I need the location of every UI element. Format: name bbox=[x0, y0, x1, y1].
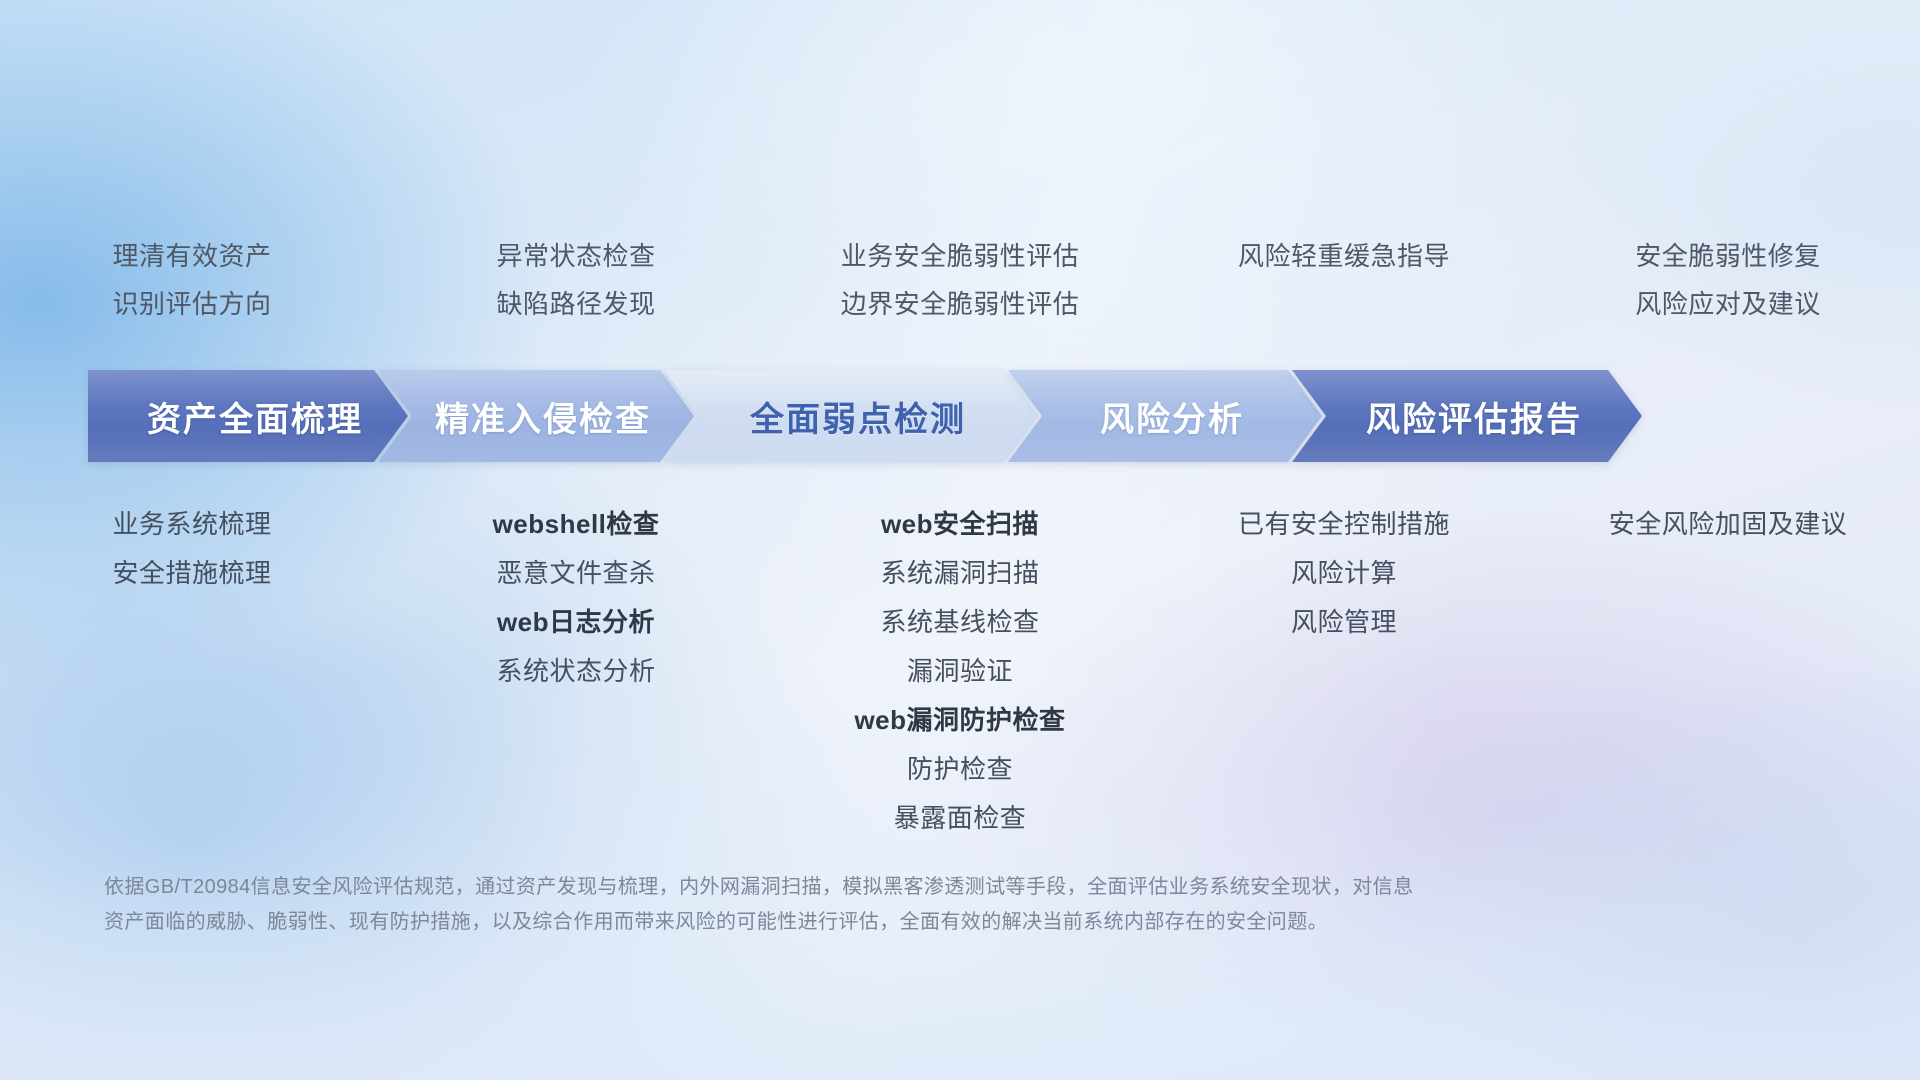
top-label-item: 异常状态检查 bbox=[496, 232, 655, 280]
bottom-labels-step-1: 业务系统梳理安全措施梳理 bbox=[0, 500, 384, 598]
process-chevron-step-3[interactable]: 全面弱点检测 bbox=[664, 370, 1038, 462]
top-labels-step-4: 风险轻重缓急指导 bbox=[1152, 232, 1536, 328]
slide-content: 理清有效资产识别评估方向异常状态检查缺陷路径发现业务安全脆弱性评估边界安全脆弱性… bbox=[0, 0, 1920, 1080]
top-labels-step-3: 业务安全脆弱性评估边界安全脆弱性评估 bbox=[768, 232, 1152, 328]
bottom-label-item: 风险计算 bbox=[1291, 549, 1397, 598]
bottom-label-row: 业务系统梳理安全措施梳理webshell检查恶意文件查杀web日志分析系统状态分… bbox=[0, 500, 1920, 843]
bottom-label-item: 暴露面检查 bbox=[894, 794, 1027, 843]
bottom-label-item: 系统基线检查 bbox=[880, 598, 1039, 647]
process-chevron-step-5[interactable]: 风险评估报告 bbox=[1292, 370, 1642, 462]
top-label-item: 缺陷路径发现 bbox=[496, 280, 655, 328]
bottom-label-item: 系统状态分析 bbox=[496, 647, 655, 696]
top-labels-step-1: 理清有效资产识别评估方向 bbox=[0, 232, 384, 328]
process-chevron-step-1[interactable]: 资产全面梳理 bbox=[88, 370, 408, 462]
process-chevron-banner: 资产全面梳理精准入侵检查全面弱点检测风险分析风险评估报告 bbox=[88, 370, 1832, 462]
bottom-labels-step-5: 安全风险加固及建议 bbox=[1536, 500, 1920, 549]
bottom-label-item: 漏洞验证 bbox=[907, 647, 1013, 696]
footer-line-1: 依据GB/T20984信息安全风险评估规范，通过资产发现与梳理，内外网漏洞扫描，… bbox=[104, 870, 1644, 905]
slide-canvas: 理清有效资产识别评估方向异常状态检查缺陷路径发现业务安全脆弱性评估边界安全脆弱性… bbox=[0, 0, 1920, 1080]
bottom-label-item: web漏洞防护检查 bbox=[854, 696, 1065, 745]
bottom-label-item: webshell检查 bbox=[493, 500, 660, 549]
chevron-label: 资产全面梳理 bbox=[133, 392, 363, 441]
bottom-labels-step-4: 已有安全控制措施风险计算风险管理 bbox=[1152, 500, 1536, 647]
bottom-label-item: 安全风险加固及建议 bbox=[1609, 500, 1848, 549]
chevron-label: 精准入侵检查 bbox=[421, 392, 651, 441]
bottom-label-item: 已有安全控制措施 bbox=[1238, 500, 1450, 549]
bottom-labels-step-2: webshell检查恶意文件查杀web日志分析系统状态分析 bbox=[384, 500, 768, 696]
bottom-label-item: 风险管理 bbox=[1291, 598, 1397, 647]
bottom-label-item: 安全措施梳理 bbox=[112, 549, 271, 598]
chevron-label: 风险分析 bbox=[1086, 392, 1244, 441]
chevron-label: 全面弱点检测 bbox=[736, 392, 966, 441]
process-chevron-step-4[interactable]: 风险分析 bbox=[1008, 370, 1322, 462]
footer-description: 依据GB/T20984信息安全风险评估规范，通过资产发现与梳理，内外网漏洞扫描，… bbox=[104, 870, 1644, 940]
top-label-item: 边界安全脆弱性评估 bbox=[841, 280, 1080, 328]
process-chevron-step-2[interactable]: 精准入侵检查 bbox=[378, 370, 694, 462]
bottom-label-item: web安全扫描 bbox=[881, 500, 1039, 549]
bottom-labels-step-3: web安全扫描系统漏洞扫描系统基线检查漏洞验证web漏洞防护检查防护检查暴露面检… bbox=[768, 500, 1152, 843]
footer-line-2: 资产面临的威胁、脆弱性、现有防护措施，以及综合作用而带来风险的可能性进行评估，全… bbox=[104, 905, 1644, 940]
bottom-label-item: web日志分析 bbox=[497, 598, 655, 647]
top-labels-step-5: 安全脆弱性修复风险应对及建议 bbox=[1536, 232, 1920, 328]
chevron-label: 风险评估报告 bbox=[1352, 392, 1582, 441]
bottom-label-item: 防护检查 bbox=[907, 745, 1013, 794]
top-label-item: 风险应对及建议 bbox=[1635, 280, 1821, 328]
bottom-label-item: 系统漏洞扫描 bbox=[880, 549, 1039, 598]
bottom-label-item: 恶意文件查杀 bbox=[496, 549, 655, 598]
top-labels-step-2: 异常状态检查缺陷路径发现 bbox=[384, 232, 768, 328]
top-label-item: 风险轻重缓急指导 bbox=[1238, 232, 1450, 280]
top-label-item: 理清有效资产 bbox=[112, 232, 271, 280]
top-label-row: 理清有效资产识别评估方向异常状态检查缺陷路径发现业务安全脆弱性评估边界安全脆弱性… bbox=[0, 232, 1920, 328]
top-label-item: 识别评估方向 bbox=[112, 280, 271, 328]
top-label-item: 安全脆弱性修复 bbox=[1635, 232, 1821, 280]
bottom-label-item: 业务系统梳理 bbox=[112, 500, 271, 549]
top-label-item: 业务安全脆弱性评估 bbox=[841, 232, 1080, 280]
